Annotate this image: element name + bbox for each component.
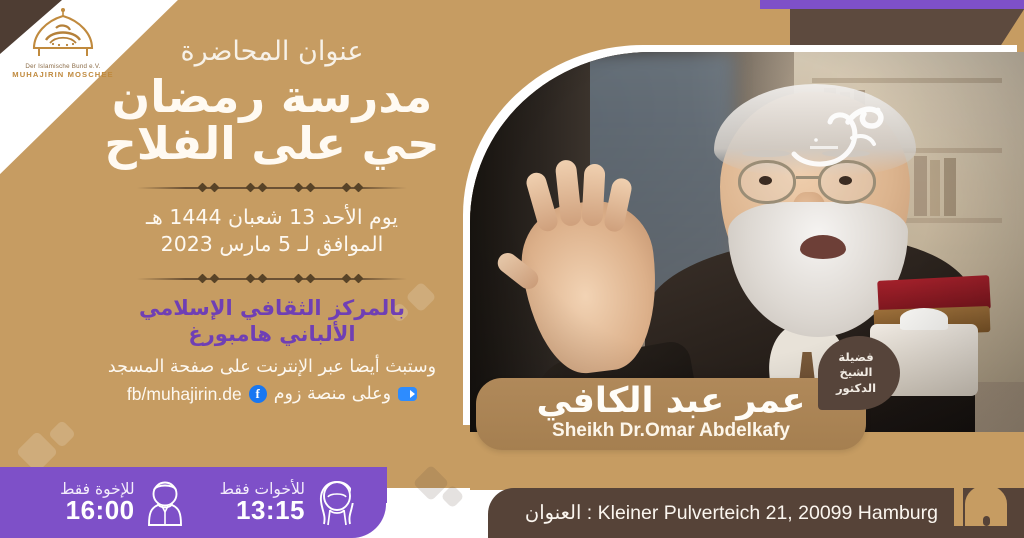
- date-gregorian: الموافق لـ 5 مارس 2023: [96, 231, 448, 259]
- facebook-handle[interactable]: fb/muhajirin.de: [127, 384, 242, 405]
- session-men: للإخوة فقط 16:00: [60, 479, 186, 527]
- speaker-name-arabic: عمر عبد الكافي: [476, 378, 866, 419]
- lecture-poster: Der Islamische Bund e.V. MUHAJIRIN MOSCH…: [0, 0, 1024, 538]
- session-women-time: 13:15: [220, 497, 305, 525]
- session-times-bar: للأخوات فقط 13:15 للإخوة فقط 16:00: [0, 467, 386, 538]
- session-women: للأخوات فقط 13:15: [220, 479, 360, 527]
- mosque-dome-icon: [942, 464, 1012, 530]
- lecture-title-line-1: مدرسة رمضان: [96, 73, 448, 120]
- arabic-calligraphy-watermark: [786, 96, 894, 176]
- venue-line-1: بالمركز الثقافي الإسلامي: [96, 295, 448, 321]
- lecture-title-line-2: حي على الفلاح: [96, 120, 448, 167]
- address-bar: Kleiner Pulverteich 21, 20099 Hamburg : …: [488, 488, 1024, 538]
- streaming-note: وستبث أيضا عبر الإنترنت على صفحة المسجد: [96, 355, 448, 380]
- left-content-column: عنوان المحاضرة مدرسة رمضان حي على الفلاح…: [96, 36, 448, 405]
- honorific-line-2: الشيخ: [836, 365, 876, 380]
- woman-hijab-icon: [314, 479, 360, 527]
- lecture-kicker: عنوان المحاضرة: [96, 36, 448, 67]
- honorific-line-1: فضيلة: [836, 350, 876, 365]
- session-men-time: 16:00: [60, 497, 135, 525]
- zoom-camera-icon[interactable]: [398, 387, 417, 401]
- ornament-divider: [137, 180, 407, 196]
- facebook-icon[interactable]: f: [249, 385, 267, 403]
- zoom-text: وعلى منصة زوم: [274, 384, 391, 404]
- date-hijri: يوم الأحد 13 شعبان 1444 هـ: [96, 204, 448, 232]
- honorific-line-3: الدكتور: [836, 381, 876, 396]
- venue-line-2: الألباني هامبورغ: [96, 321, 448, 347]
- top-purple-strip: [760, 0, 1024, 9]
- social-row: وعلى منصة زوم f fb/muhajirin.de: [96, 384, 448, 405]
- speaker-photo: [470, 52, 1024, 432]
- man-icon: [144, 479, 186, 527]
- speaker-name-banner: عمر عبد الكافي Sheikh Dr.Omar Abdelkafy: [476, 378, 866, 450]
- speaker-honorific-badge: فضيلة الشيخ الدكتور: [818, 336, 900, 410]
- ornament-divider: [137, 271, 407, 287]
- address-text: Kleiner Pulverteich 21, 20099 Hamburg : …: [525, 501, 938, 525]
- speaker-name-english: Sheikh Dr.Omar Abdelkafy: [476, 420, 866, 442]
- mosque-calligraphy-logo-icon: [26, 6, 100, 62]
